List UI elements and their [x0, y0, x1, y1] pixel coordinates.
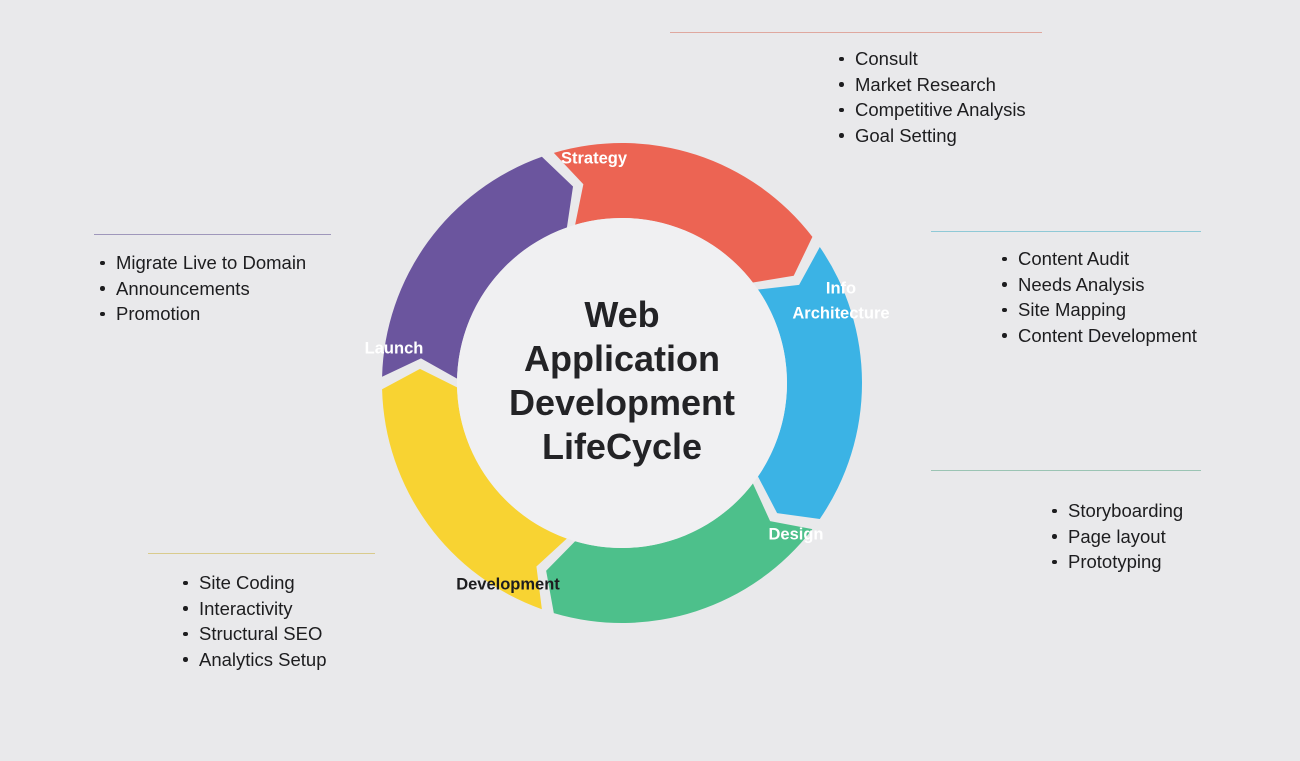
list-item: Page layout — [1046, 524, 1201, 550]
list-item: Content Audit — [996, 246, 1201, 272]
list-item: Site Mapping — [996, 297, 1201, 323]
segment-label-design: Design — [768, 525, 823, 543]
center-title-line-2: Application — [524, 338, 720, 379]
callout-launch-rule — [94, 234, 331, 235]
segment-label-launch: Launch — [365, 339, 424, 357]
list-item: Interactivity — [177, 596, 375, 622]
list-item: Announcements — [94, 276, 331, 302]
center-title-line-3: Development — [509, 382, 735, 423]
center-title-line-4: LifeCycle — [542, 426, 702, 467]
list-item: Site Coding — [177, 570, 375, 596]
list-item: Needs Analysis — [996, 272, 1201, 298]
center-title-line-1: Web — [584, 294, 659, 335]
callout-info-architecture: Content Audit Needs Analysis Site Mappin… — [931, 231, 1201, 348]
list-item: Storyboarding — [1046, 498, 1201, 524]
list-item: Competitive Analysis — [833, 97, 1042, 123]
callout-development: Site Coding Interactivity Structural SEO… — [148, 553, 375, 672]
list-item: Content Development — [996, 323, 1201, 349]
segment-label-development: Development — [456, 575, 560, 593]
list-item: Structural SEO — [177, 621, 375, 647]
list-item: Migrate Live to Domain — [94, 250, 331, 276]
list-item: Prototyping — [1046, 549, 1201, 575]
callout-design-list: Storyboarding Page layout Prototyping — [931, 498, 1201, 575]
list-item: Goal Setting — [833, 123, 1042, 149]
segment-label-info-architecture-line1: Info — [826, 279, 856, 297]
segment-label-info-architecture-line2: Architecture — [792, 304, 889, 322]
callout-launch: Migrate Live to Domain Announcements Pro… — [94, 234, 331, 327]
list-item: Market Research — [833, 72, 1042, 98]
list-item: Consult — [833, 46, 1042, 72]
callout-design-rule — [931, 470, 1201, 471]
callout-development-rule — [148, 553, 375, 554]
callout-design: Storyboarding Page layout Prototyping — [931, 470, 1201, 575]
callout-development-list: Site Coding Interactivity Structural SEO… — [148, 570, 375, 672]
segment-label-strategy: Strategy — [561, 149, 628, 167]
callout-strategy-list: Consult Market Research Competitive Anal… — [670, 46, 1042, 148]
callout-strategy: Consult Market Research Competitive Anal… — [670, 32, 1042, 148]
list-item: Analytics Setup — [177, 647, 375, 673]
callout-info-architecture-list: Content Audit Needs Analysis Site Mappin… — [931, 246, 1201, 348]
callout-info-architecture-rule — [931, 231, 1201, 232]
list-item: Promotion — [94, 301, 331, 327]
diagram-canvas: Strategy Info Architecture Design Develo… — [0, 0, 1300, 761]
callout-launch-list: Migrate Live to Domain Announcements Pro… — [94, 250, 331, 327]
callout-strategy-rule — [670, 32, 1042, 33]
